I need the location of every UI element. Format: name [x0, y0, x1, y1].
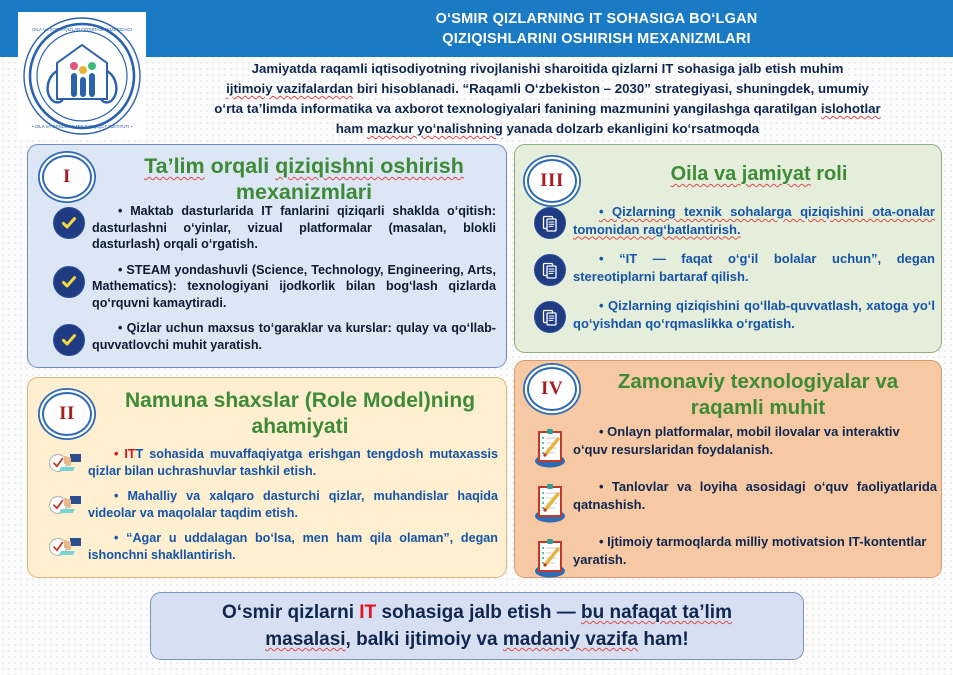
panel-title-1: Ta’lim orqali qiziqishni oshirish mexani…	[108, 153, 500, 205]
list-item-text: • Mahalliy va xalqaro dasturchi qizlar, …	[88, 488, 498, 521]
panel-1-item-list: • Maktab dasturlarida IT fanlarini qiziq…	[46, 203, 496, 365]
panel-family-society: III Oila va jamiyat roli • Qizlarning te…	[514, 144, 942, 353]
list-item: • Ijtimoiy tarmoqlarda milliy motivatsio…	[527, 533, 937, 579]
panel-modern-technologies: IV Zamonaviy texnologiyalar va raqamli m…	[514, 360, 942, 578]
list-item: • “IT — faqat o‘g‘il bolalar uchun”, deg…	[527, 250, 935, 286]
panel-role-models: II Namuna shaxslar (Role Model)ning aham…	[27, 377, 507, 578]
documents-icon	[527, 250, 573, 286]
list-item: • Qizlarning qiziqishini qo‘llab-quvvatl…	[527, 297, 935, 333]
clipboard-checklist-icon	[527, 478, 573, 524]
panel-numeral-badge-4: IV	[527, 367, 577, 411]
subheader-line-4: ham mazkur yo‘nalishning yanada dolzarb …	[336, 119, 759, 139]
list-item-text: • ITT sohasida muvaffaqiyatga erishgan t…	[88, 446, 498, 479]
list-item: • Mahalliy va xalqaro dasturchi qizlar, …	[42, 488, 498, 521]
svg-text:• OILA VA GENDER ILMIY-TADQIQO: • OILA VA GENDER ILMIY-TADQIQOT INSTITUT…	[32, 124, 133, 129]
clipboard-checklist-icon	[527, 533, 573, 579]
list-item-text: • Ijtimoiy tarmoqlarda milliy motivatsio…	[573, 533, 937, 568]
footer-conclusion-banner: O‘smir qizlarni IT sohasiga jalb etish —…	[150, 592, 804, 660]
list-item: • Qizlarning texnik sohalarga qiziqishin…	[527, 203, 935, 239]
panel-2-item-list: • ITT sohasida muvaffaqiyatga erishgan t…	[42, 446, 498, 572]
subheader-line-3: o‘rta ta’limda informatika va axborot te…	[214, 99, 880, 119]
panel-numeral-badge-2: II	[42, 392, 92, 436]
list-item-text: • Maktab dasturlarida IT fanlarini qiziq…	[92, 203, 496, 253]
check-circle-icon	[46, 262, 92, 298]
list-item: • STEAM yondashuvli (Science, Technology…	[46, 262, 496, 312]
panel-title-4: Zamonaviy texnologiyalar va raqamli muhi…	[583, 369, 933, 421]
header-title-line-2: QIZIQISHLARINI OSHIRISH MEXANIZMLARI	[442, 29, 750, 49]
panel-4-item-list: • Onlayn platformalar, mobil ilovalar va…	[527, 423, 937, 588]
clipboard-hand-check-icon	[42, 446, 88, 476]
panel-title-3: Oila va jamiyat roli	[585, 161, 933, 187]
list-item: • “Agar u uddalagan bo‘lsa, men ham qila…	[42, 530, 498, 563]
panel-numeral-badge-3: III	[527, 159, 577, 203]
subheader-line-2: ijtimoiy vazifalardan biri hisoblanadi. …	[226, 79, 869, 99]
panel-3-item-list: • Qizlarning texnik sohalarga qiziqishin…	[527, 203, 935, 344]
svg-text:OILA VA XOTIN-QIZLAR QO‘MITASI: OILA VA XOTIN-QIZLAR QO‘MITASI HUZURIDAG…	[32, 27, 132, 32]
list-item: • ITT sohasida muvaffaqiyatga erishgan t…	[42, 446, 498, 479]
list-item: • Tanlovlar va loyiha asosidagi o‘quv fa…	[527, 478, 937, 524]
subheader-paragraph: Jamiyatda raqamli iqtisodiyotning rivojl…	[150, 58, 945, 140]
infographic-page: O‘SMIR QIZLARNING IT SOHASIGA BO‘LGAN QI…	[0, 0, 953, 675]
list-item-text: • STEAM yondashuvli (Science, Technology…	[92, 262, 496, 312]
documents-icon	[527, 203, 573, 239]
clipboard-hand-check-icon	[42, 488, 88, 518]
documents-icon	[527, 297, 573, 333]
check-circle-icon	[46, 203, 92, 239]
list-item: • Onlayn platformalar, mobil ilovalar va…	[527, 423, 937, 469]
clipboard-hand-check-icon	[42, 530, 88, 560]
list-item-text: • Qizlarning qiziqishini qo‘llab-quvvatl…	[573, 297, 935, 332]
list-item: • Qizlar uchun maxsus to‘garaklar va kur…	[46, 320, 496, 356]
panel-title-2: Namuna shaxslar (Role Model)ning ahamiya…	[100, 388, 500, 440]
footer-text: O‘smir qizlarni IT sohasiga jalb etish —…	[222, 599, 732, 653]
list-item: • Maktab dasturlarida IT fanlarini qiziq…	[46, 203, 496, 253]
header-title-line-1: O‘SMIR QIZLARNING IT SOHASIGA BO‘LGAN	[436, 9, 758, 29]
panel-mechanisms-education: I Ta’lim orqali qiziqishni oshirish mexa…	[27, 144, 507, 368]
list-item-text: • Onlayn platformalar, mobil ilovalar va…	[573, 423, 937, 458]
panel-numeral-badge-1: I	[42, 155, 92, 199]
list-item-text: • “Agar u uddalagan bo‘lsa, men ham qila…	[88, 530, 498, 563]
list-item-text: • Tanlovlar va loyiha asosidagi o‘quv fa…	[573, 478, 937, 513]
clipboard-checklist-icon	[527, 423, 573, 469]
check-circle-icon	[46, 320, 92, 356]
header-title-block: O‘SMIR QIZLARNING IT SOHASIGA BO‘LGAN QI…	[240, 0, 953, 57]
organization-emblem: OILA VA XOTIN-QIZLAR QO‘MITASI HUZURIDAG…	[18, 12, 146, 140]
list-item-text: • Qizlar uchun maxsus to‘garaklar va kur…	[92, 320, 496, 353]
list-item-text: • Qizlarning texnik sohalarga qiziqishin…	[573, 203, 935, 238]
subheader-line-1: Jamiyatda raqamli iqtisodiyotning rivojl…	[252, 59, 844, 79]
list-item-text: • “IT — faqat o‘g‘il bolalar uchun”, deg…	[573, 250, 935, 285]
